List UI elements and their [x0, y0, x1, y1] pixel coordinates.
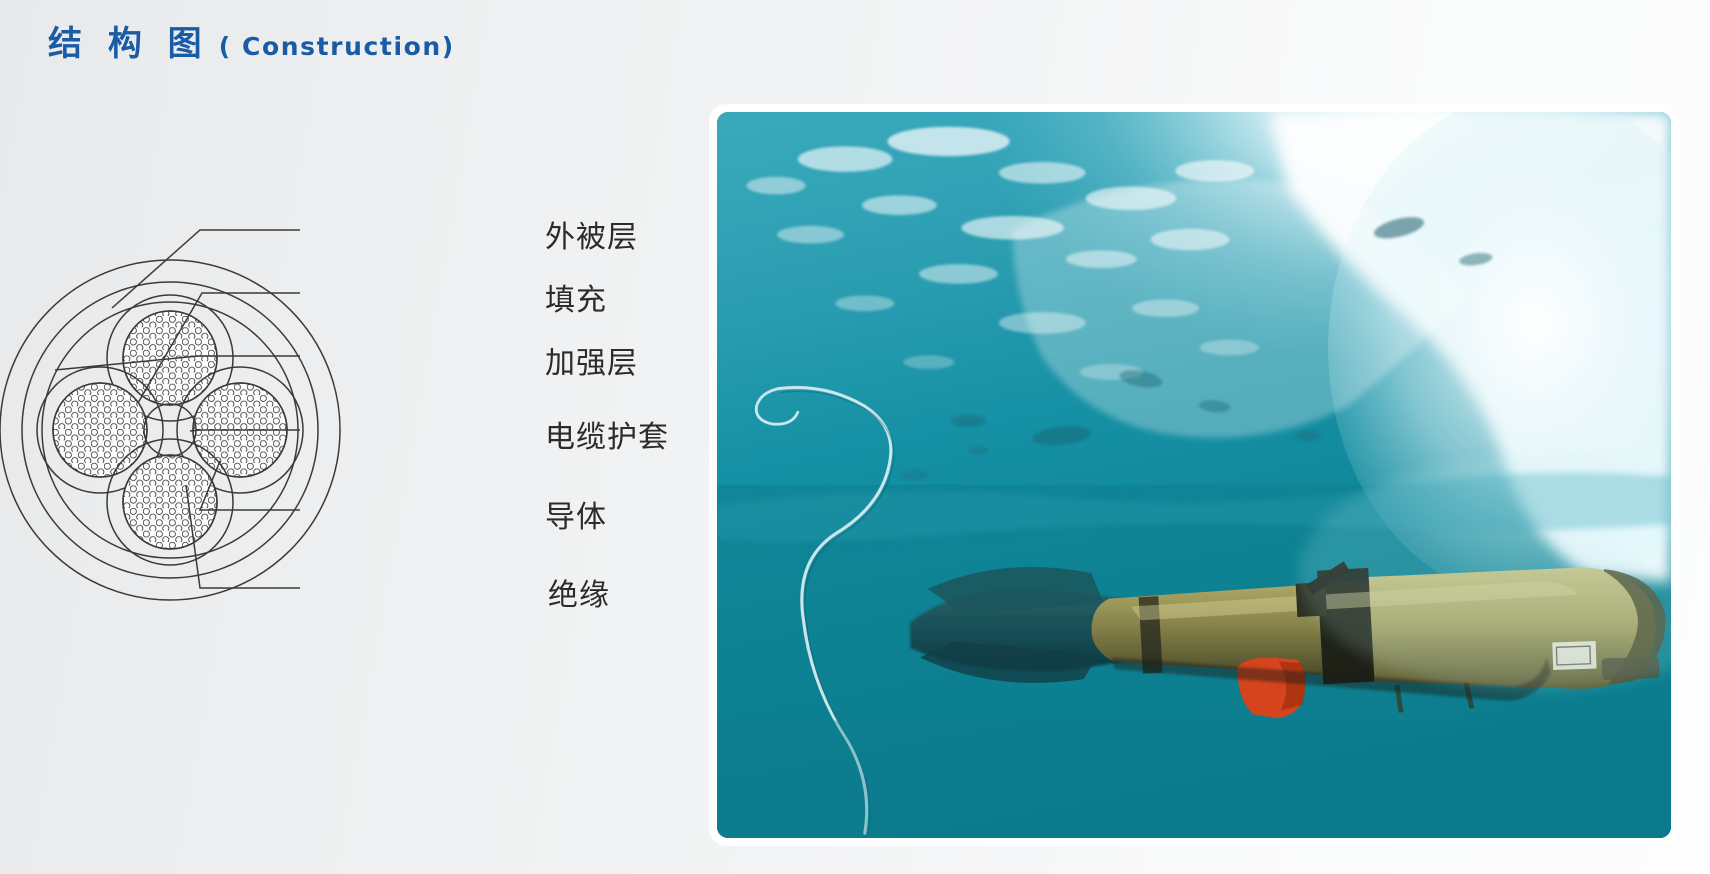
underwater-scene	[717, 112, 1671, 838]
page-title-english: ( Construction)	[219, 32, 455, 61]
cable-cross-section-svg	[0, 90, 720, 710]
callout-label-cable-jacket: 电缆护套	[545, 412, 669, 456]
cable-construction-diagram: 外被层 填充 加强层 电缆护套 导体 绝缘	[0, 90, 720, 710]
foreground-haze	[717, 720, 1671, 838]
center-filler	[144, 404, 196, 456]
callout-label-filler: 填充	[545, 275, 607, 319]
callout-label-insulation: 绝缘	[548, 570, 610, 614]
photo-frame	[710, 105, 1678, 845]
core-bottom	[107, 439, 233, 565]
page-title: 结 构 图 ( Construction)	[48, 16, 455, 65]
leader-outer-sheath	[112, 230, 300, 308]
callout-label-outer-sheath: 外被层	[545, 212, 638, 256]
underwater-auv-photograph	[717, 112, 1671, 838]
page-title-chinese: 结 构 图	[48, 16, 209, 65]
callout-label-conductor: 导体	[545, 492, 607, 536]
callout-label-strength-member: 加强层	[545, 338, 638, 382]
